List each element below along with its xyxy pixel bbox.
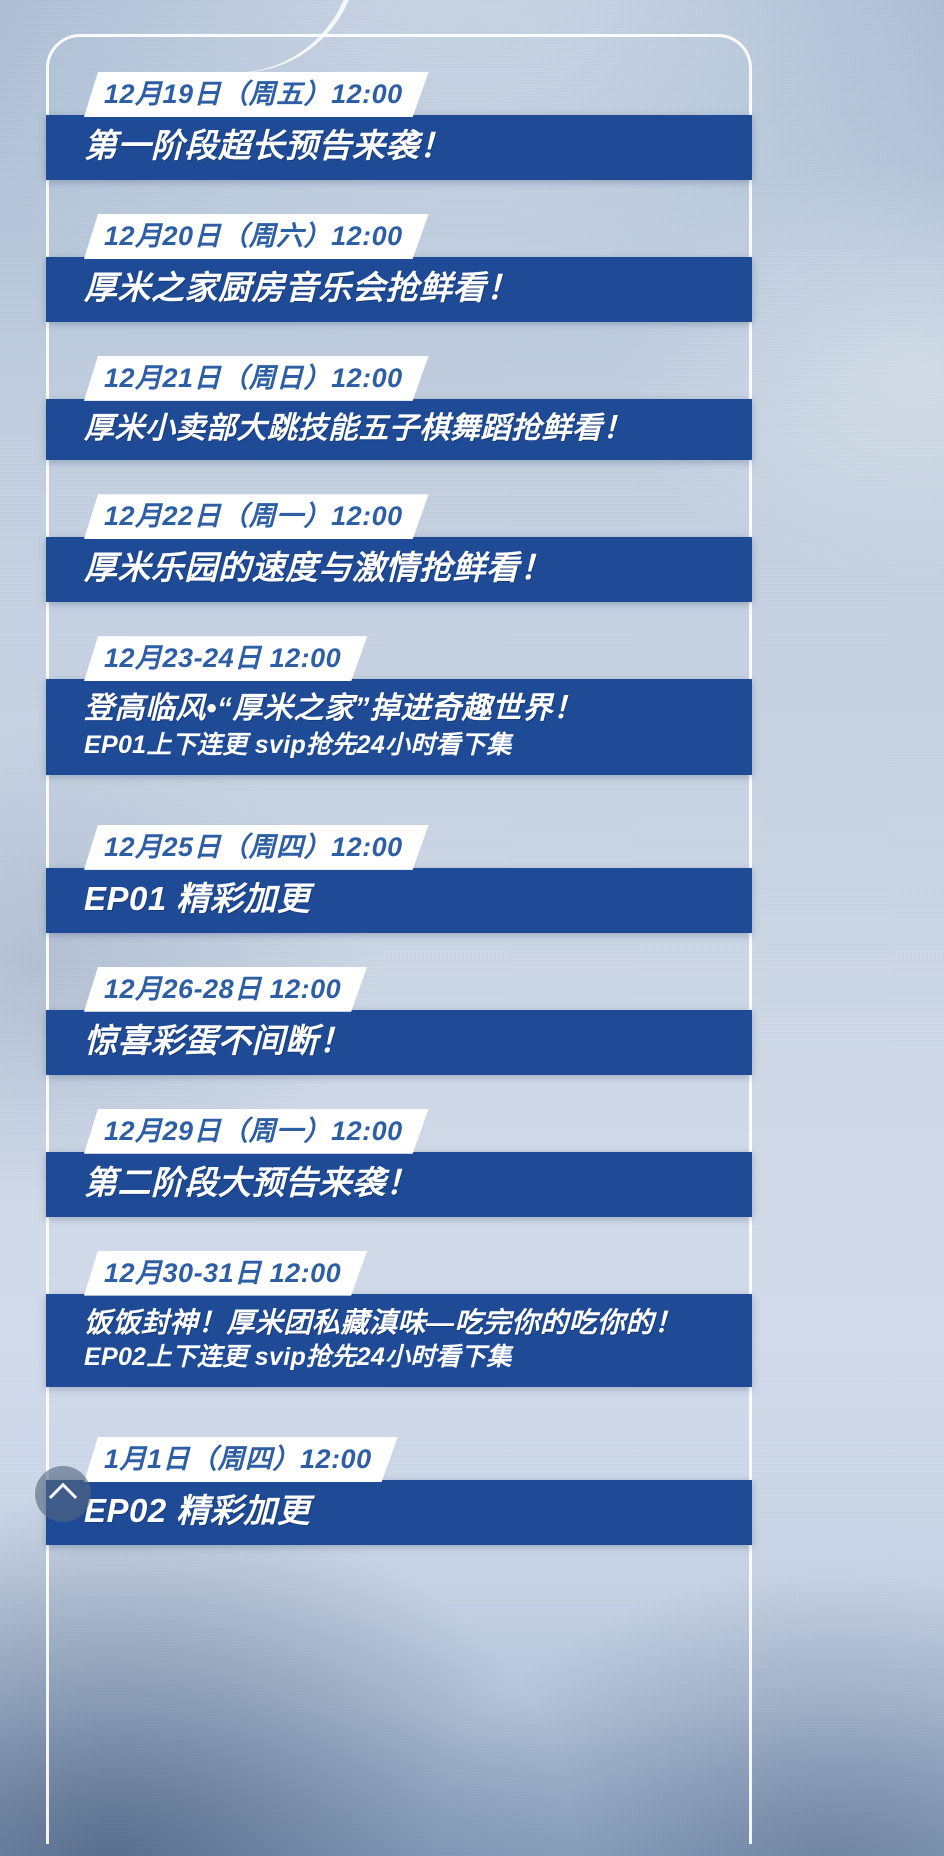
chevron-up-icon bbox=[49, 1483, 77, 1511]
entry-title: 惊喜彩蛋不间断！ bbox=[84, 1022, 732, 1061]
entry-body-bar: 厚米小卖部大跳技能五子棋舞蹈抢鲜看！ bbox=[46, 399, 752, 460]
entry-subtitle: EP01上下连更 svip抢先24小时看下集 bbox=[84, 730, 732, 761]
entry-body-bar: 惊喜彩蛋不间断！ bbox=[46, 1010, 752, 1075]
schedule-entry: 12月22日（周一）12:00厚米乐园的速度与激情抢鲜看！ bbox=[46, 494, 752, 602]
schedule-list: 12月19日（周五）12:00第一阶段超长预告来袭！12月20日（周六）12:0… bbox=[46, 34, 752, 1844]
entry-date-chip: 12月25日（周四）12:00 bbox=[84, 825, 429, 870]
entry-date-chip: 12月30-31日 12:00 bbox=[84, 1251, 367, 1296]
entry-body-bar: 饭饭封神！厚米团私藏滇味—吃完你的吃你的！EP02上下连更 svip抢先24小时… bbox=[46, 1294, 752, 1387]
schedule-entry: 12月25日（周四）12:00EP01 精彩加更 bbox=[46, 825, 752, 933]
entry-title: 第一阶段超长预告来袭！ bbox=[84, 127, 732, 166]
entry-date-chip: 12月21日（周日）12:00 bbox=[84, 356, 429, 401]
entry-title: 登高临风•“厚米之家”掉进奇趣世界！ bbox=[84, 691, 732, 726]
schedule-entry: 12月26-28日 12:00惊喜彩蛋不间断！ bbox=[46, 967, 752, 1075]
entry-subtitle: EP02上下连更 svip抢先24小时看下集 bbox=[84, 1342, 732, 1373]
entry-title: 饭饭封神！厚米团私藏滇味—吃完你的吃你的！ bbox=[84, 1306, 732, 1339]
entry-title: 厚米小卖部大跳技能五子棋舞蹈抢鲜看！ bbox=[84, 411, 732, 446]
entry-date-chip: 12月26-28日 12:00 bbox=[84, 967, 367, 1012]
entry-title: EP01 精彩加更 bbox=[84, 880, 732, 919]
entry-date-chip: 12月29日（周一）12:00 bbox=[84, 1109, 429, 1154]
entry-date-chip: 12月19日（周五）12:00 bbox=[84, 72, 429, 117]
entry-date-chip: 1月1日（周四）12:00 bbox=[84, 1437, 398, 1482]
entry-date-chip: 12月23-24日 12:00 bbox=[84, 636, 367, 681]
entry-body-bar: EP02 精彩加更 bbox=[46, 1480, 752, 1545]
schedule-entry: 12月30-31日 12:00饭饭封神！厚米团私藏滇味—吃完你的吃你的！EP02… bbox=[46, 1251, 752, 1387]
schedule-entry: 12月21日（周日）12:00厚米小卖部大跳技能五子棋舞蹈抢鲜看！ bbox=[46, 356, 752, 460]
entry-body-bar: 第二阶段大预告来袭！ bbox=[46, 1152, 752, 1217]
entry-body-bar: 登高临风•“厚米之家”掉进奇趣世界！EP01上下连更 svip抢先24小时看下集 bbox=[46, 679, 752, 775]
schedule-entry: 12月20日（周六）12:00厚米之家厨房音乐会抢鲜看！ bbox=[46, 214, 752, 322]
entry-date-chip: 12月22日（周一）12:00 bbox=[84, 494, 429, 539]
entry-body-bar: EP01 精彩加更 bbox=[46, 868, 752, 933]
entry-body-bar: 厚米之家厨房音乐会抢鲜看！ bbox=[46, 257, 752, 322]
entry-title: EP02 精彩加更 bbox=[84, 1492, 732, 1531]
scroll-to-top-button[interactable] bbox=[35, 1466, 91, 1522]
schedule-poster: 12月19日（周五）12:00第一阶段超长预告来袭！12月20日（周六）12:0… bbox=[0, 0, 944, 1856]
schedule-entry: 12月29日（周一）12:00第二阶段大预告来袭！ bbox=[46, 1109, 752, 1217]
entry-body-bar: 厚米乐园的速度与激情抢鲜看！ bbox=[46, 537, 752, 602]
entry-title: 第二阶段大预告来袭！ bbox=[84, 1164, 732, 1203]
entry-title: 厚米之家厨房音乐会抢鲜看！ bbox=[84, 269, 732, 308]
entry-date-chip: 12月20日（周六）12:00 bbox=[84, 214, 429, 259]
entry-title: 厚米乐园的速度与激情抢鲜看！ bbox=[84, 549, 732, 588]
schedule-entry: 12月23-24日 12:00登高临风•“厚米之家”掉进奇趣世界！EP01上下连… bbox=[46, 636, 752, 775]
entry-body-bar: 第一阶段超长预告来袭！ bbox=[46, 115, 752, 180]
schedule-entry: 12月19日（周五）12:00第一阶段超长预告来袭！ bbox=[46, 72, 752, 180]
schedule-entry: 1月1日（周四）12:00EP02 精彩加更 bbox=[46, 1437, 752, 1545]
